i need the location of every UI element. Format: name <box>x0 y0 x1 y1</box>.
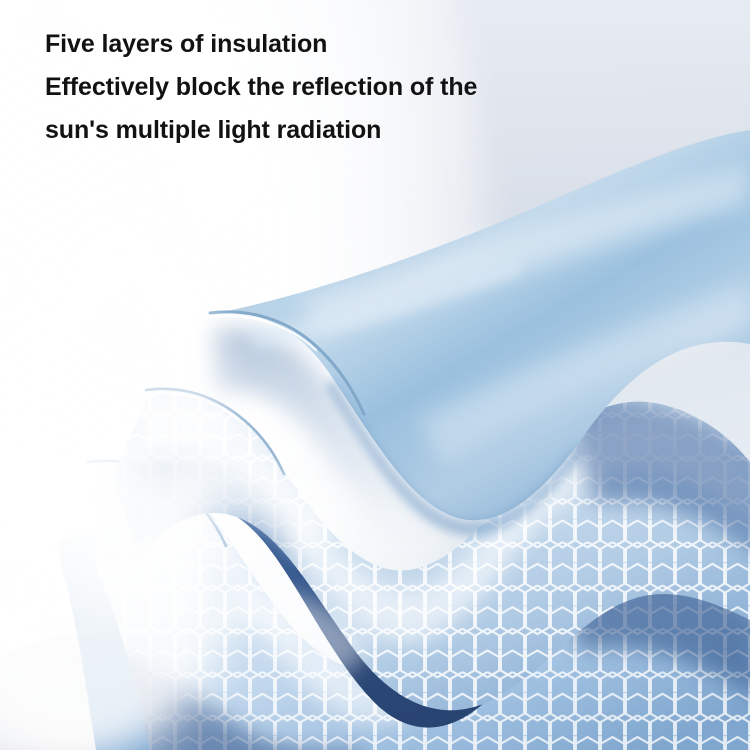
product-feature-banner: Five layers of insulation Effectively bl… <box>0 0 750 750</box>
page-title: Five layers of insulation Effectively bl… <box>45 23 705 152</box>
